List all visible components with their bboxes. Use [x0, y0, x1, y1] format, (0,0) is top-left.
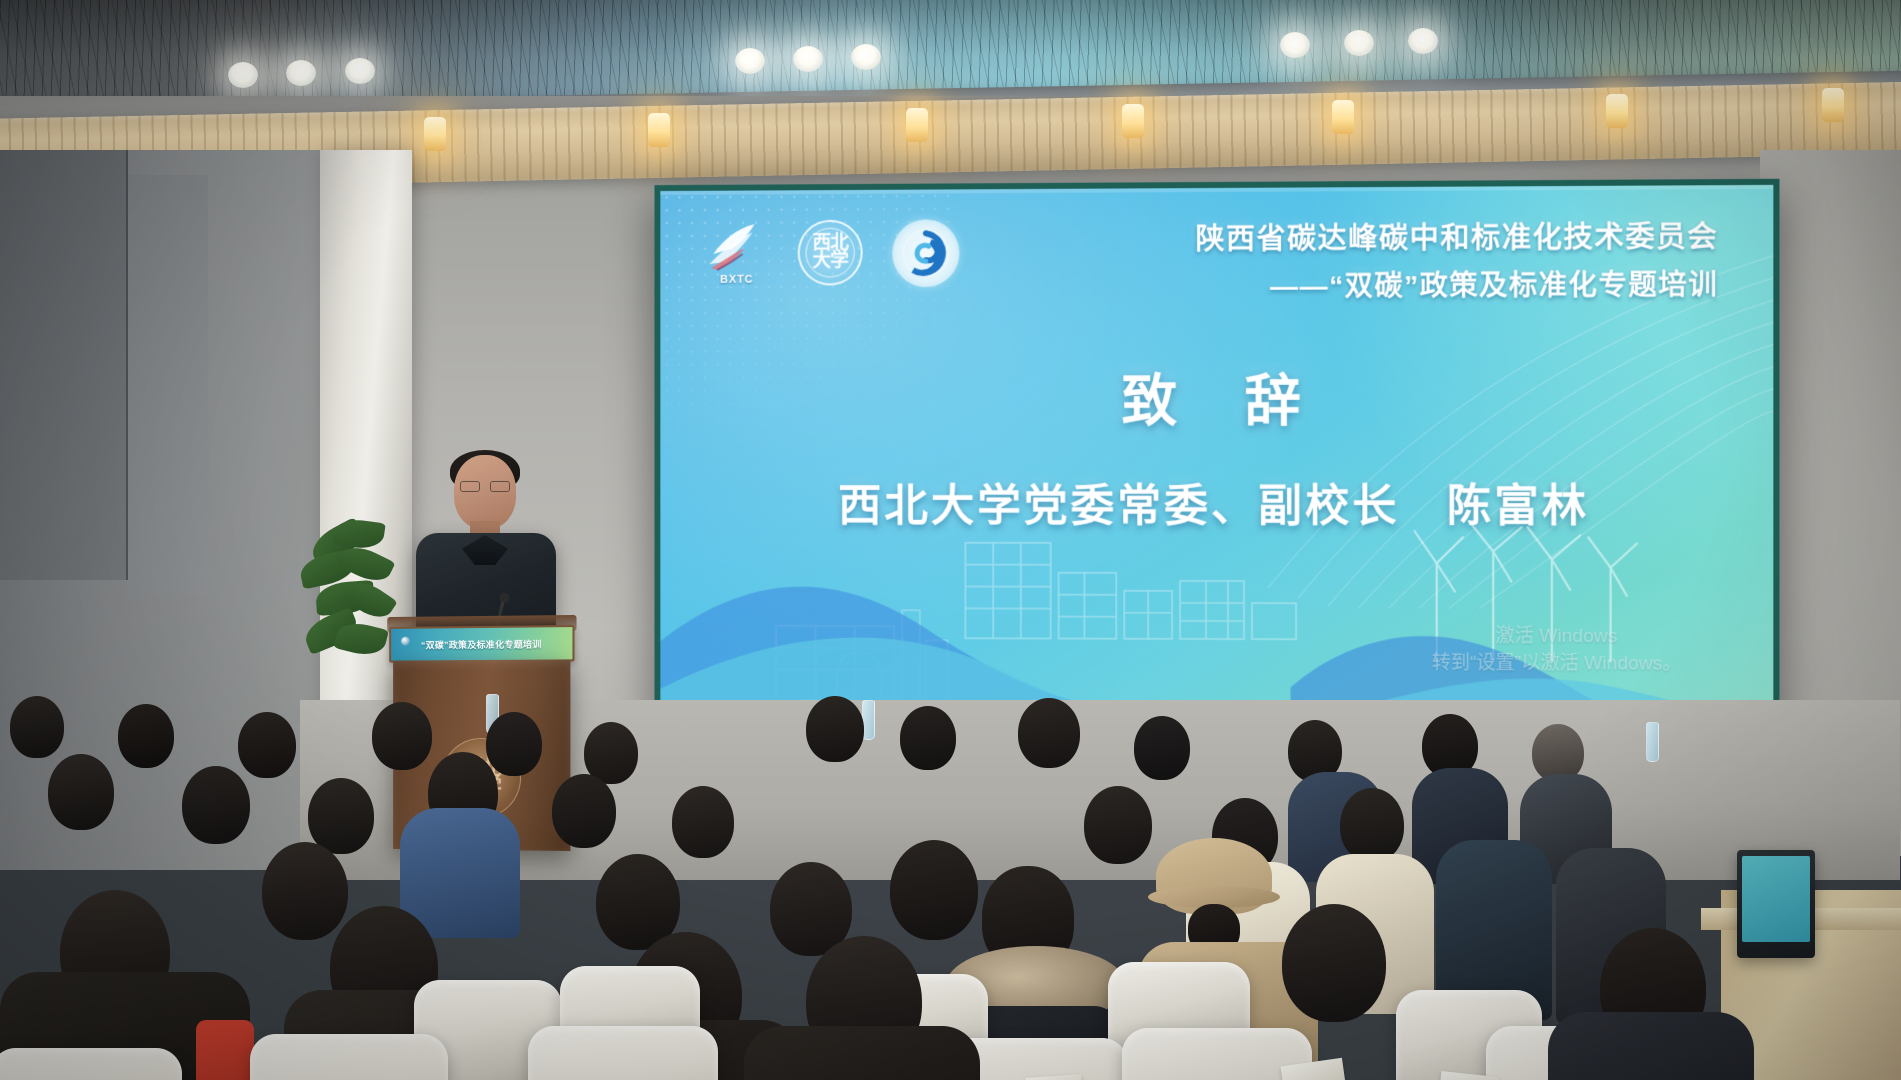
audience-torso [744, 1026, 980, 1080]
ceiling-downlight [851, 44, 881, 70]
screen-logo-row: BXTC 西北大学 [705, 219, 959, 298]
audience-head [552, 774, 616, 848]
slide-title: 致 辞 [660, 355, 1773, 438]
projection-screen: BXTC 西北大学 陕西省碳达峰碳中和标准化技术委员会 ——“双碳”政策及标准化… [660, 185, 1773, 776]
ceiling-downlight [1280, 32, 1310, 58]
water-bottle [1646, 722, 1659, 762]
control-monitor-screen [1742, 856, 1810, 942]
wall-accent-light [1122, 104, 1144, 138]
audience-head [1018, 698, 1080, 768]
audience-head [308, 778, 374, 854]
ceiling-downlight [793, 46, 823, 72]
red-scarf [196, 1020, 254, 1080]
podium-banner-logo-icon [401, 637, 410, 646]
left-wall-panel [0, 150, 128, 580]
watermark-line1: 激活 Windows [1432, 622, 1682, 650]
audience-head [900, 706, 956, 770]
screen-header-line2: ——“双碳”政策及标准化专题培训 [1196, 263, 1719, 305]
wall-accent-light [1606, 94, 1628, 128]
audience-head [1134, 716, 1190, 780]
wall-accent-light [424, 117, 446, 151]
bxtc-label: BXTC [720, 274, 753, 286]
watermark-line2: 转到“设置”以激活 Windows。 [1432, 650, 1682, 679]
wall-accent-light [648, 113, 670, 147]
audience-area [0, 690, 1901, 1080]
audience-head [182, 766, 250, 844]
podium-banner: “双碳”政策及标准化专题培训 [389, 625, 574, 663]
bird-icon [707, 220, 766, 272]
audience-head [372, 702, 432, 770]
podium-banner-text: “双碳”政策及标准化专题培训 [421, 637, 542, 651]
audience-seat [528, 1026, 718, 1080]
ceiling-downlight [345, 58, 375, 84]
ceiling-downlight [1344, 30, 1374, 56]
ceiling-downlight [228, 62, 258, 88]
audience-head [10, 696, 64, 758]
screen-header: 陕西省碳达峰碳中和标准化技术委员会 ——“双碳”政策及标准化专题培训 [1196, 213, 1719, 305]
audience-head [486, 712, 542, 776]
water-bottle [862, 700, 875, 740]
ceiling-downlight [1408, 28, 1438, 54]
seal-glyph: 西北大学 [812, 235, 847, 271]
university-seal-logo: 西北大学 [798, 220, 863, 286]
audience-head [1282, 904, 1386, 1022]
conference-hall-photo: BXTC 西北大学 陕西省碳达峰碳中和标准化技术委员会 ——“双碳”政策及标准化… [0, 0, 1901, 1080]
audience-torso [1548, 1012, 1754, 1080]
ceiling-downlight [286, 60, 316, 86]
audience-head [118, 704, 174, 768]
audience-seat [0, 1048, 182, 1080]
carbon-swirl-logo [892, 219, 959, 287]
audience-head [1340, 788, 1404, 862]
swirl-icon [901, 228, 950, 278]
audience-head [262, 842, 348, 940]
audience-seat [250, 1034, 448, 1080]
screen-header-line1: 陕西省碳达峰碳中和标准化技术委员会 [1196, 213, 1719, 258]
left-wall-panel-secondary [128, 175, 208, 595]
windows-activation-watermark: 激活 Windows 转到“设置”以激活 Windows。 [1432, 622, 1682, 678]
audience-head [48, 754, 114, 830]
speaker-head [454, 455, 516, 529]
bxtc-bird-logo: BXTC [705, 220, 768, 298]
wall-accent-light [1822, 88, 1844, 122]
wall-accent-light [906, 108, 928, 142]
audience-head [672, 786, 734, 858]
audience-head [806, 696, 864, 762]
audience-head [238, 712, 296, 778]
ceiling-downlight [735, 48, 765, 74]
control-monitor [1737, 850, 1815, 958]
speaker-glasses [460, 481, 510, 492]
audience-torso [400, 808, 520, 938]
wall-accent-light [1332, 100, 1354, 134]
